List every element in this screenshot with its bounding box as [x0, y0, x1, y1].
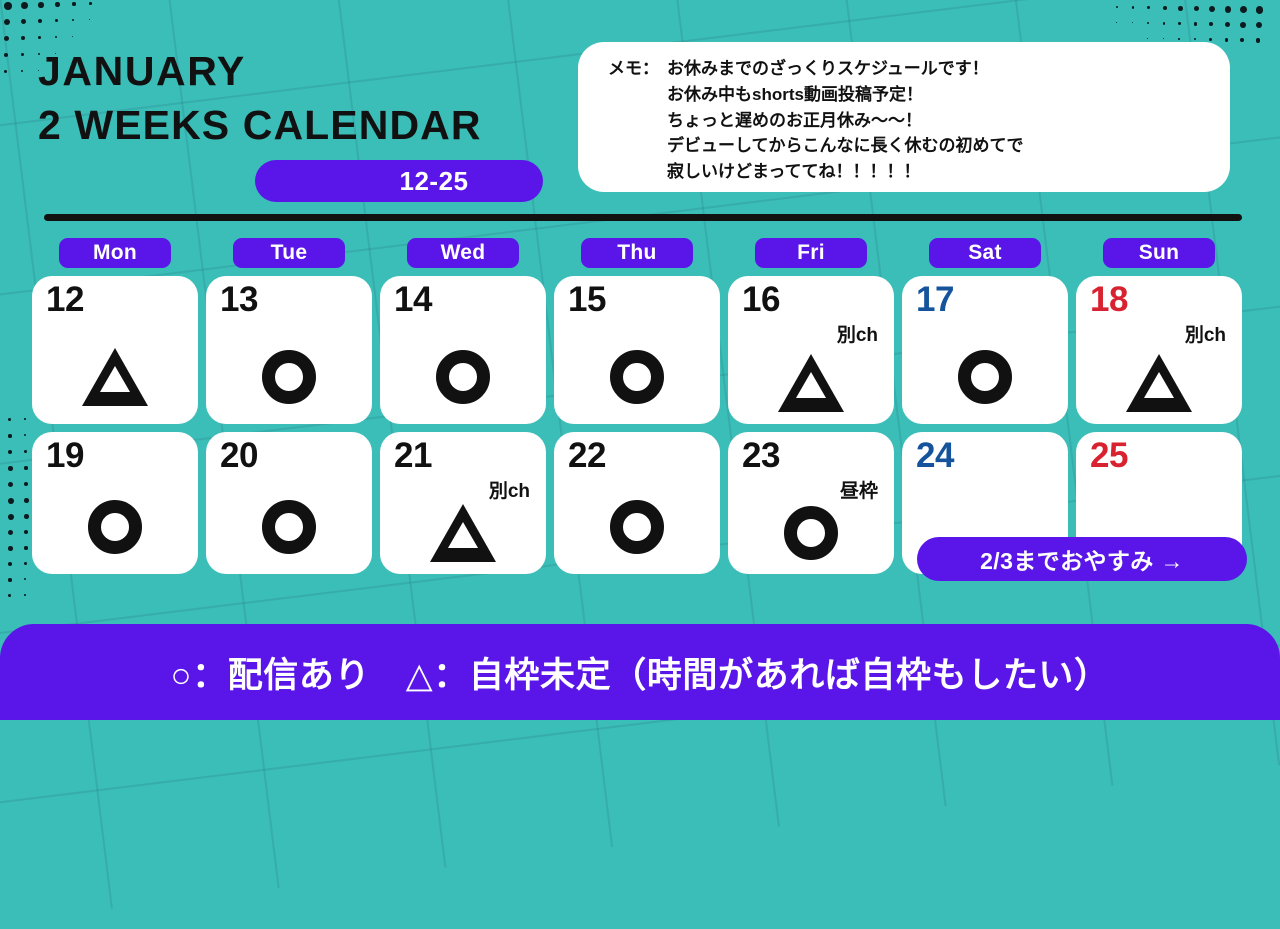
day-number: 24 [916, 436, 954, 475]
calendar-day-14[interactable]: 14 [380, 276, 546, 424]
day-status-mark [728, 352, 894, 414]
weekday-label: Tue [271, 241, 308, 265]
calendar-cell-wrapper: 22 [550, 432, 724, 574]
calendar-day-12[interactable]: 12 [32, 276, 198, 424]
decorative-dot [24, 450, 27, 453]
decorative-dot [8, 498, 14, 504]
decorative-dot [72, 19, 74, 21]
day-status-mark [554, 346, 720, 408]
memo-label: メモ： [608, 56, 659, 185]
decorative-dot [1225, 38, 1229, 42]
calendar-cell-wrapper: 23昼枠 [724, 432, 898, 574]
decorative-dot [1209, 6, 1215, 12]
day-status-mark [206, 496, 372, 558]
decorative-dot [1178, 6, 1183, 11]
weekday-label: Sun [1139, 241, 1180, 265]
decorative-dot [21, 2, 28, 9]
decorative-dot [1178, 22, 1181, 25]
day-number: 23 [742, 436, 780, 475]
calendar-day-17[interactable]: 17 [902, 276, 1068, 424]
calendar-cell-wrapper: 21別ch [376, 432, 550, 574]
decorative-dot [21, 70, 23, 72]
decorative-dot [24, 562, 27, 565]
decorative-dot [1256, 6, 1264, 14]
memo-box: メモ： お休みまでのざっくりスケジュールです！お休み中もshorts動画投稿予定… [578, 42, 1230, 192]
decorative-dot [4, 36, 9, 41]
decorative-dot [1178, 38, 1180, 40]
header-divider [44, 214, 1242, 221]
decorative-dot [1163, 6, 1167, 10]
day-note: 別ch [837, 320, 878, 347]
decorative-dot [21, 19, 26, 24]
weekday-label: Sat [968, 241, 1002, 265]
calendar-day-15[interactable]: 15 [554, 276, 720, 424]
page-title: JANUARY 2 WEEKS CALENDAR [38, 44, 558, 152]
decorative-dot [1147, 22, 1149, 24]
calendar-cell-wrapper: 13 [202, 276, 376, 424]
legend-text: ○：配信あり △：自枠未定（時間があれば自枠もしたい） [170, 647, 1109, 698]
weekday-pill-sat: Sat [929, 238, 1041, 268]
calendar-cell-wrapper: 12 [28, 276, 202, 424]
decorative-dot [4, 19, 10, 25]
decorative-dot [1132, 6, 1135, 9]
weekday-header-cell: Sat [898, 234, 1072, 268]
memo-line: 寂しいけどまっててね！！！！！ [667, 159, 1024, 185]
day-number: 25 [1090, 436, 1128, 475]
day-status-mark [1076, 352, 1242, 414]
decorative-dot [1209, 22, 1213, 26]
day-note: 別ch [1185, 320, 1226, 347]
calendar-day-18[interactable]: 18別ch [1076, 276, 1242, 424]
decorative-dot [24, 578, 26, 580]
weekday-pill-thu: Thu [581, 238, 693, 268]
triangle-icon [82, 348, 148, 406]
decorative-dot [1240, 38, 1244, 42]
day-status-mark [728, 502, 894, 564]
calendar-day-20[interactable]: 20 [206, 432, 372, 574]
calendar-day-22[interactable]: 22 [554, 432, 720, 574]
circle-icon [262, 500, 316, 554]
decorative-dot [8, 578, 12, 582]
weekday-pill-fri: Fri [755, 238, 867, 268]
day-number: 18 [1090, 280, 1128, 319]
day-number: 22 [568, 436, 606, 475]
weekday-pill-sun: Sun [1103, 238, 1215, 268]
decorative-dot [1194, 6, 1199, 11]
decorative-dot [8, 418, 11, 421]
circle-icon [88, 500, 142, 554]
decorative-dot [38, 19, 42, 23]
decorative-dot [72, 36, 73, 37]
calendar-cell-wrapper: 14 [376, 276, 550, 424]
calendar-cell-wrapper: 15 [550, 276, 724, 424]
calendar-day-19[interactable]: 19 [32, 432, 198, 574]
weekday-header-cell: Thu [550, 234, 724, 268]
weekday-header-cell: Sun [1072, 234, 1246, 268]
weekday-pill-wed: Wed [407, 238, 519, 268]
day-status-mark [380, 502, 546, 564]
date-range-label: 12-25 [400, 166, 469, 197]
decorative-dot [4, 53, 8, 57]
circle-icon [784, 506, 838, 560]
weekday-header-cell: Tue [202, 234, 376, 268]
decorative-dot [38, 2, 44, 8]
memo-body: お休みまでのざっくりスケジュールです！お休み中もshorts動画投稿予定！ちょっ… [667, 56, 1024, 185]
decorative-dot [1240, 6, 1247, 13]
decorative-dot [1194, 38, 1196, 40]
weekday-pill-mon: Mon [59, 238, 171, 268]
decorative-dot [8, 434, 12, 438]
decorative-dot [55, 19, 58, 22]
triangle-icon [1126, 354, 1192, 412]
calendar-cell-wrapper: 16別ch [724, 276, 898, 424]
day-number: 17 [916, 280, 954, 319]
weekday-header-cell: Mon [28, 234, 202, 268]
calendar-cell-wrapper: 20 [202, 432, 376, 574]
weekday-label: Wed [441, 241, 486, 265]
memo-line: お休みまでのざっくりスケジュールです！ [667, 56, 1024, 82]
day-number: 21 [394, 436, 432, 475]
decorative-dot [89, 19, 90, 20]
circle-icon [610, 500, 664, 554]
day-number: 20 [220, 436, 258, 475]
decorative-dot [24, 434, 26, 436]
day-status-mark [32, 346, 198, 408]
day-status-mark [380, 346, 546, 408]
day-status-mark [32, 496, 198, 558]
decorative-dot [8, 530, 13, 535]
decorative-dot [21, 36, 25, 40]
day-status-mark [206, 346, 372, 408]
weekday-label: Mon [93, 241, 137, 265]
decorative-dot [8, 482, 13, 487]
triangle-icon [430, 504, 496, 562]
calendar-cell-wrapper: 17 [898, 276, 1072, 424]
memo-line: お休み中もshorts動画投稿予定！ [667, 82, 1024, 108]
weekday-header-cell: Wed [376, 234, 550, 268]
decorative-dot [55, 2, 60, 7]
decorative-dot [1116, 22, 1117, 23]
decorative-dot [1116, 6, 1118, 8]
decorative-dot [8, 562, 12, 566]
calendar: MonTueWedThuFriSatSun 1213141516別ch1718別… [28, 234, 1256, 574]
decorative-dot [4, 70, 7, 73]
decorative-dot [89, 2, 92, 5]
weekday-label: Thu [617, 241, 656, 265]
decorative-dot [1225, 22, 1230, 27]
calendar-cell-wrapper: 19 [28, 432, 202, 574]
decorative-dot [1194, 22, 1198, 26]
day-number: 15 [568, 280, 606, 319]
legend-bar: ○：配信あり △：自枠未定（時間があれば自枠もしたい） [0, 624, 1280, 720]
calendar-day-21[interactable]: 21別ch [380, 432, 546, 574]
decorative-dot [24, 546, 28, 550]
decorative-dot [24, 594, 26, 596]
decorative-dot [1240, 22, 1246, 28]
day-status-mark [902, 346, 1068, 408]
decorative-dot [8, 450, 12, 454]
weekday-header-row: MonTueWedThuFriSatSun [28, 234, 1256, 268]
calendar-cell-wrapper: 18別ch [1072, 276, 1246, 424]
calendar-day-16[interactable]: 16別ch [728, 276, 894, 424]
decorative-dot [8, 466, 13, 471]
decorative-dot [72, 2, 76, 6]
decorative-dot [1132, 22, 1133, 23]
calendar-day-23[interactable]: 23昼枠 [728, 432, 894, 574]
decorative-dot [24, 466, 28, 470]
decorative-dot [1225, 6, 1232, 13]
memo-line: デビューしてからこんなに長く休むの初めてで [667, 133, 1024, 159]
weekday-header-cell: Fri [724, 234, 898, 268]
day-number: 19 [46, 436, 84, 475]
decorative-dot [1256, 22, 1262, 28]
decorative-dot [1256, 38, 1261, 43]
holiday-banner: 2/3までおやすみ → [917, 537, 1247, 581]
weekday-pill-tue: Tue [233, 238, 345, 268]
date-range-badge: 12-25 [255, 160, 543, 202]
decorative-dot [1163, 22, 1166, 25]
circle-icon [958, 350, 1012, 404]
decorative-dot [24, 418, 26, 420]
triangle-icon [778, 354, 844, 412]
decorative-dot [38, 36, 41, 39]
day-note: 別ch [489, 476, 530, 503]
day-status-mark [554, 496, 720, 558]
decorative-dot [4, 2, 12, 10]
day-note: 昼枠 [840, 476, 878, 503]
decorative-dot [1209, 38, 1212, 41]
decorative-dot [21, 53, 24, 56]
title-line-1: JANUARY [38, 44, 558, 98]
calendar-day-13[interactable]: 13 [206, 276, 372, 424]
holiday-banner-label: 2/3までおやすみ → [980, 542, 1184, 576]
decorative-dot [8, 514, 14, 520]
decorative-dot [8, 546, 13, 551]
day-number: 12 [46, 280, 84, 319]
day-number: 16 [742, 280, 780, 319]
decorative-dot [1147, 6, 1150, 9]
decorative-dot [1163, 38, 1164, 39]
decorative-dot [55, 36, 57, 38]
circle-icon [262, 350, 316, 404]
calendar-week-row-1: 1213141516別ch1718別ch [28, 276, 1256, 424]
day-number: 13 [220, 280, 258, 319]
circle-icon [436, 350, 490, 404]
decorative-dot [8, 594, 11, 597]
weekday-label: Fri [797, 241, 825, 265]
circle-icon [610, 350, 664, 404]
day-number: 14 [394, 280, 432, 319]
memo-line: ちょっと遅めのお正月休み〜〜！ [667, 108, 1024, 134]
title-line-2: 2 WEEKS CALENDAR [38, 98, 558, 152]
